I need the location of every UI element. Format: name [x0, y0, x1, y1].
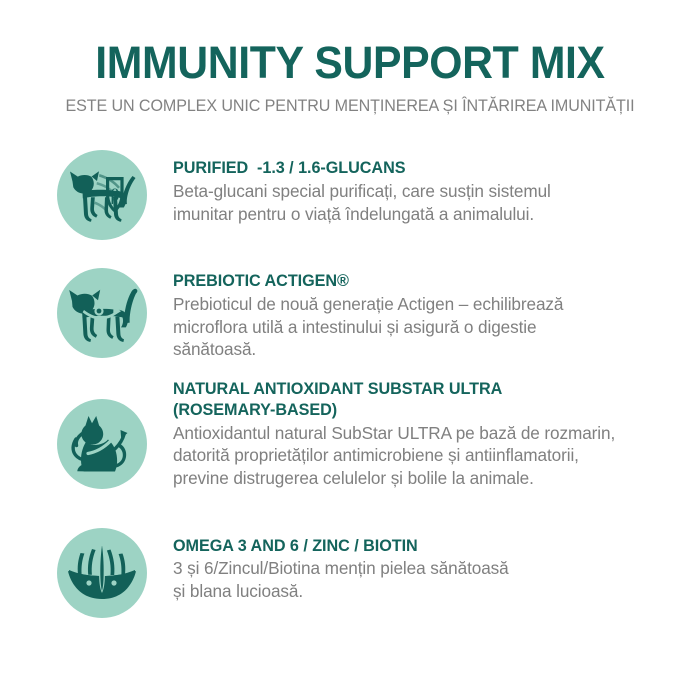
feature-icon-container [0, 256, 147, 358]
page-title: IMMUNITY SUPPORT MIX [18, 40, 683, 85]
feature-text: NATURAL ANTIOXIDANT SUBSTAR ULTRA (ROSEM… [147, 377, 700, 490]
feature-body: Prebioticul de nouă generație Actigen – … [173, 293, 680, 361]
feature-text: PREBIOTIC ACTIGEN® Prebioticul de nouă g… [147, 256, 700, 361]
feature-body: Beta-glucani special purificați, care su… [173, 180, 680, 225]
feature-heading: PURIFIED -1.3 / 1.6-GLUCANS [173, 158, 680, 179]
header: IMMUNITY SUPPORT MIX ESTE UN COMPLEX UNI… [0, 0, 700, 115]
feature-icon-container [0, 518, 147, 618]
feature-text: OMEGA 3 AND 6 / ZINC / BIOTIN 3 și 6/Zin… [147, 518, 700, 603]
cat-shield-beta-icon: β [57, 150, 147, 240]
svg-text:β: β [110, 186, 119, 205]
feature-text: PURIFIED -1.3 / 1.6-GLUCANS Beta-glucani… [147, 145, 700, 225]
infographic-page: IMMUNITY SUPPORT MIX ESTE UN COMPLEX UNI… [0, 0, 700, 700]
feature-icon-container [0, 377, 147, 489]
feature-item-omega: OMEGA 3 AND 6 / ZINC / BIOTIN 3 și 6/Zin… [0, 518, 700, 618]
page-subtitle: ESTE UN COMPLEX UNIC PENTRU MENȚINEREA Ș… [11, 97, 690, 115]
feature-body: 3 și 6/Zincul/Biotina mențin pielea sănă… [173, 557, 680, 602]
feature-heading: PREBIOTIC ACTIGEN® [173, 271, 680, 292]
cat-digestion-arrow-icon [57, 268, 147, 358]
feature-heading: OMEGA 3 AND 6 / ZINC / BIOTIN [173, 536, 680, 557]
feature-item-prebiotic: PREBIOTIC ACTIGEN® Prebioticul de nouă g… [0, 256, 700, 361]
feature-item-glucans: β PURIFIED -1.3 / 1.6-GLUCANS Beta-gluca… [0, 145, 700, 240]
cat-antioxidant-swirl-icon [57, 399, 147, 489]
feature-body: Antioxidantul natural SubStar ULTRA pe b… [173, 422, 680, 490]
feature-list: β PURIFIED -1.3 / 1.6-GLUCANS Beta-gluca… [0, 145, 700, 617]
feature-heading: NATURAL ANTIOXIDANT SUBSTAR ULTRA (ROSEM… [173, 379, 680, 420]
feature-item-antioxidant: NATURAL ANTIOXIDANT SUBSTAR ULTRA (ROSEM… [0, 377, 700, 490]
hair-follicles-skin-icon [57, 528, 147, 618]
feature-icon-container: β [0, 145, 147, 240]
